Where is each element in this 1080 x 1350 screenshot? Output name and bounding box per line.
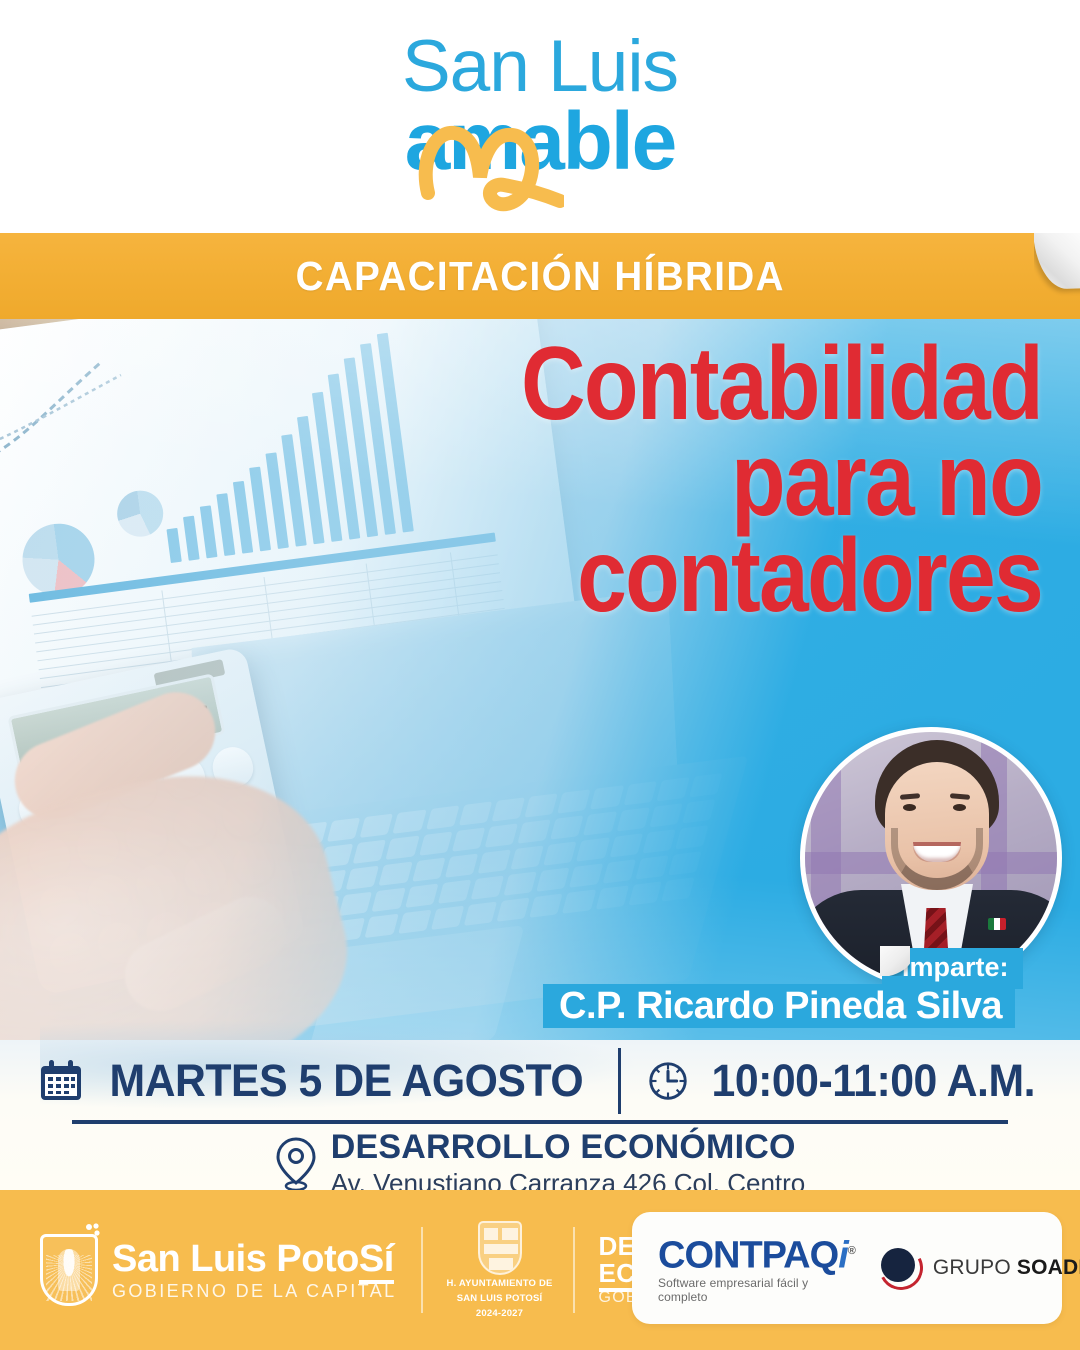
contpaq-tagline: Software empresarial fácil y completo xyxy=(658,1276,855,1304)
clock-icon xyxy=(645,1058,691,1104)
event-date: MARTES 5 DE AGOSTO xyxy=(109,1055,583,1107)
event-details: MARTES 5 DE AGOSTO 10:00-11:00 A.M. xyxy=(0,1040,1080,1190)
slp-government-logo: San Luis PotoSí GOBIERNO DE LA CAPITAL xyxy=(40,1234,397,1306)
imparte-tag: Imparte: xyxy=(882,948,1023,989)
map-pin-icon xyxy=(275,1135,317,1193)
flag-pin-icon xyxy=(988,918,1006,930)
brand-logo: San Luis amable xyxy=(330,27,750,207)
soaddi-word1: GRUPO xyxy=(933,1256,1011,1279)
page-curl-icon xyxy=(1034,233,1080,297)
calendar-icon xyxy=(37,1057,85,1105)
slp-subtitle: GOBIERNO DE LA CAPITAL xyxy=(112,1281,397,1302)
ayuntamiento-caption-3: 2024-2027 xyxy=(447,1308,553,1320)
imparte-label: Imparte: xyxy=(902,952,1009,982)
contpaq-logo: CONTPAQi® Software empresarial fácil y c… xyxy=(658,1232,855,1304)
divider-rule xyxy=(72,1120,1008,1124)
ayuntamiento-shield-block: H. AYUNTAMIENTO DE SAN LUIS POTOSÍ 2024-… xyxy=(447,1221,553,1320)
contpaq-trademark: ® xyxy=(848,1245,855,1257)
heart-m-icon xyxy=(414,105,564,213)
slp-title-b: Sí xyxy=(359,1238,394,1284)
coat-of-arms-icon xyxy=(40,1234,98,1306)
location-row: DESARROLLO ECONÓMICO Av. Venustiano Carr… xyxy=(0,1128,1080,1199)
event-time: 10:00-11:00 A.M. xyxy=(711,1055,1034,1107)
ayuntamiento-shield-icon xyxy=(478,1221,522,1275)
page-title: Contabilidad para no contadores xyxy=(474,336,1042,624)
soaddi-logo: GRUPO SOADDI xyxy=(879,1246,1080,1290)
poster: San Luis amable CAPACITACIÓN HÍBRIDA xyxy=(0,0,1080,1350)
page-title-line2: para no xyxy=(474,432,1042,528)
footer: San Luis PotoSí GOBIERNO DE LA CAPITAL H… xyxy=(0,1190,1080,1350)
ribbon-banner: CAPACITACIÓN HÍBRIDA xyxy=(0,233,1080,319)
soaddi-circle-icon xyxy=(879,1246,923,1290)
venue-name: DESARROLLO ECONÓMICO xyxy=(331,1128,806,1167)
page-curl-icon xyxy=(880,946,910,976)
divider xyxy=(421,1227,423,1313)
slp-logo-text: San Luis PotoSí GOBIERNO DE LA CAPITAL xyxy=(112,1239,397,1302)
slp-title-a: San Luis Poto xyxy=(112,1238,359,1280)
location-text: DESARROLLO ECONÓMICO Av. Venustiano Carr… xyxy=(331,1128,806,1199)
date-time-row: MARTES 5 DE AGOSTO 10:00-11:00 A.M. xyxy=(0,1050,1080,1112)
flag-icon xyxy=(85,1223,101,1239)
time-cell: 10:00-11:00 A.M. xyxy=(621,1055,1044,1107)
brand-logo-band: San Luis amable xyxy=(0,0,1080,233)
page-title-line1: Contabilidad xyxy=(474,336,1042,432)
contpaq-name: CONTPAQ xyxy=(658,1235,838,1277)
date-cell: MARTES 5 DE AGOSTO xyxy=(37,1055,618,1107)
soaddi-word2: SOADDI xyxy=(1017,1256,1080,1279)
page-title-line3: contadores xyxy=(474,528,1042,624)
partner-logos-panel: CONTPAQi® Software empresarial fácil y c… xyxy=(632,1212,1062,1324)
contpaq-accent: i xyxy=(838,1235,848,1277)
ribbon-title: CAPACITACIÓN HÍBRIDA xyxy=(295,253,784,300)
ayuntamiento-caption-1: H. AYUNTAMIENTO DE xyxy=(447,1278,553,1290)
ayuntamiento-caption-2: SAN LUIS POTOSÍ xyxy=(447,1293,553,1305)
brand-logo-line1: San Luis xyxy=(330,29,750,105)
